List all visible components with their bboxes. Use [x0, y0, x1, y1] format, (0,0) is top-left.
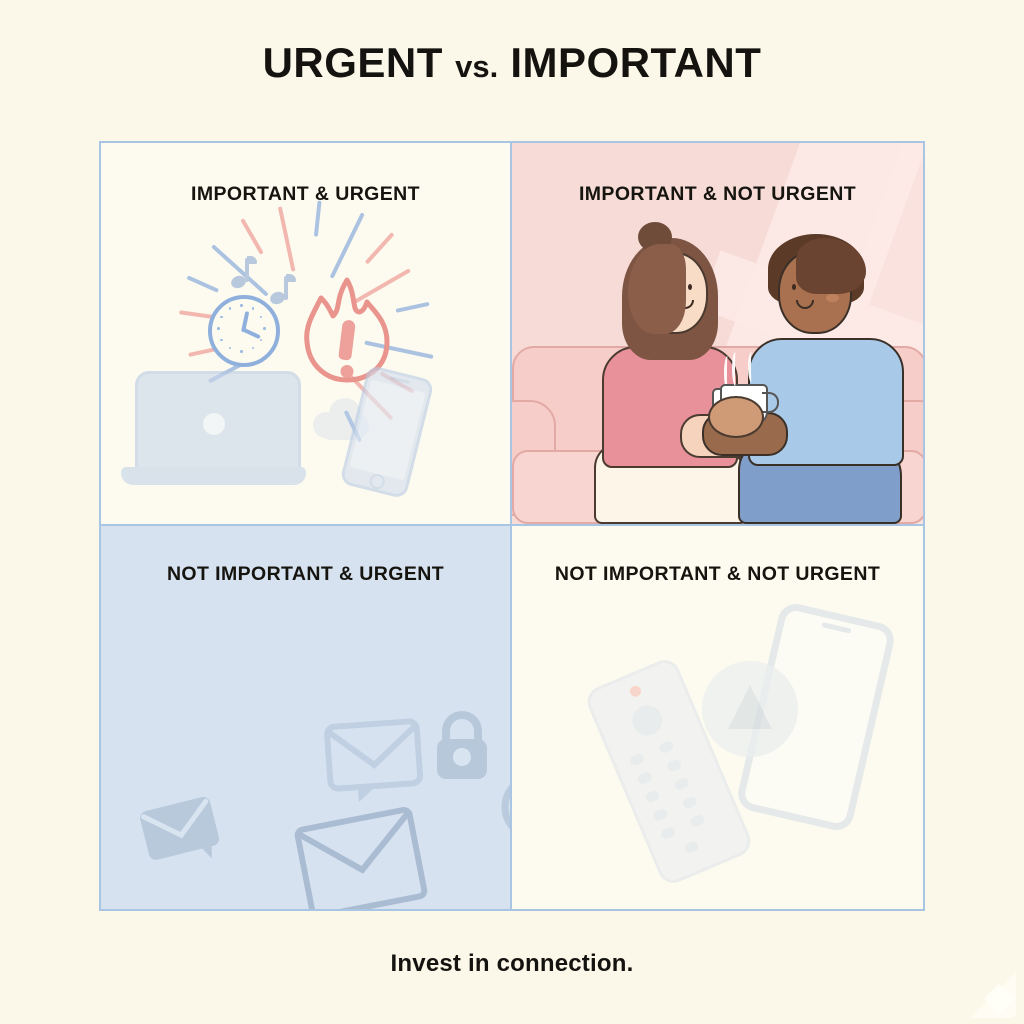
burst-ray — [240, 218, 263, 255]
page-title: URGENT vs. IMPORTANT — [0, 40, 1024, 86]
person-man — [734, 224, 923, 524]
music-note-icon — [269, 274, 293, 306]
laptop-icon — [121, 371, 306, 496]
play-button-icon — [702, 661, 798, 757]
held-hands-icon — [708, 396, 764, 438]
quadrant-label-not-important-not-urgent: NOT IMPORTANT & NOT URGENT — [512, 563, 923, 586]
music-note-icon — [229, 256, 255, 290]
clock-tick — [252, 347, 255, 350]
clock-tick — [229, 307, 232, 310]
quadrant-not-important-not-urgent[interactable]: NOT IMPORTANT & NOT URGENT — [512, 526, 923, 909]
steam-icon — [732, 352, 739, 386]
lock-icon — [431, 711, 493, 781]
remote-led-icon — [628, 684, 642, 698]
envelope-icon — [293, 805, 429, 909]
page-title-urgent: URGENT — [263, 39, 443, 86]
page-title-vs: vs. — [455, 49, 498, 84]
clock-tick — [263, 327, 266, 330]
envelope-icon — [136, 793, 228, 876]
at-sign-icon — [499, 771, 512, 843]
eisenhower-matrix-poster: URGENT vs. IMPORTANT IMPORTANT & URGENT — [0, 0, 1024, 1024]
quadrant-label-important-urgent: IMPORTANT & URGENT — [101, 183, 510, 206]
burst-ray — [329, 212, 364, 278]
quadrant-grid: IMPORTANT & URGENT — [99, 141, 925, 911]
clock-tick — [229, 347, 232, 350]
footer-caption: Invest in connection. — [0, 950, 1024, 978]
clock-tick — [252, 307, 255, 310]
clock-tick — [240, 304, 243, 307]
clock-tick — [260, 339, 263, 342]
smartphone-icon — [339, 365, 434, 500]
quadrant-important-urgent[interactable]: IMPORTANT & URGENT — [101, 143, 512, 526]
clock-tick — [217, 327, 220, 330]
clock-tick — [220, 316, 223, 319]
clock-tick — [260, 316, 263, 319]
steam-icon — [748, 352, 755, 382]
quadrant-not-important-urgent[interactable]: NOT IMPORTANT & URGENT — [101, 526, 512, 909]
clock-tick — [240, 350, 243, 353]
burst-ray — [186, 275, 219, 292]
quadrant-important-not-urgent[interactable]: IMPORTANT & NOT URGENT — [512, 143, 923, 526]
exclamation-icon — [341, 320, 354, 378]
burst-ray — [395, 302, 429, 313]
envelope-icon — [323, 718, 424, 805]
hair-front — [796, 238, 866, 294]
burst-ray — [277, 206, 295, 271]
hair-front — [628, 244, 686, 334]
quadrant-label-not-important-urgent: NOT IMPORTANT & URGENT — [101, 563, 510, 586]
quadrant-label-important-not-urgent: IMPORTANT & NOT URGENT — [512, 183, 923, 206]
clock-tick — [220, 339, 223, 342]
page-title-important: IMPORTANT — [510, 39, 761, 86]
burst-ray — [364, 232, 394, 264]
